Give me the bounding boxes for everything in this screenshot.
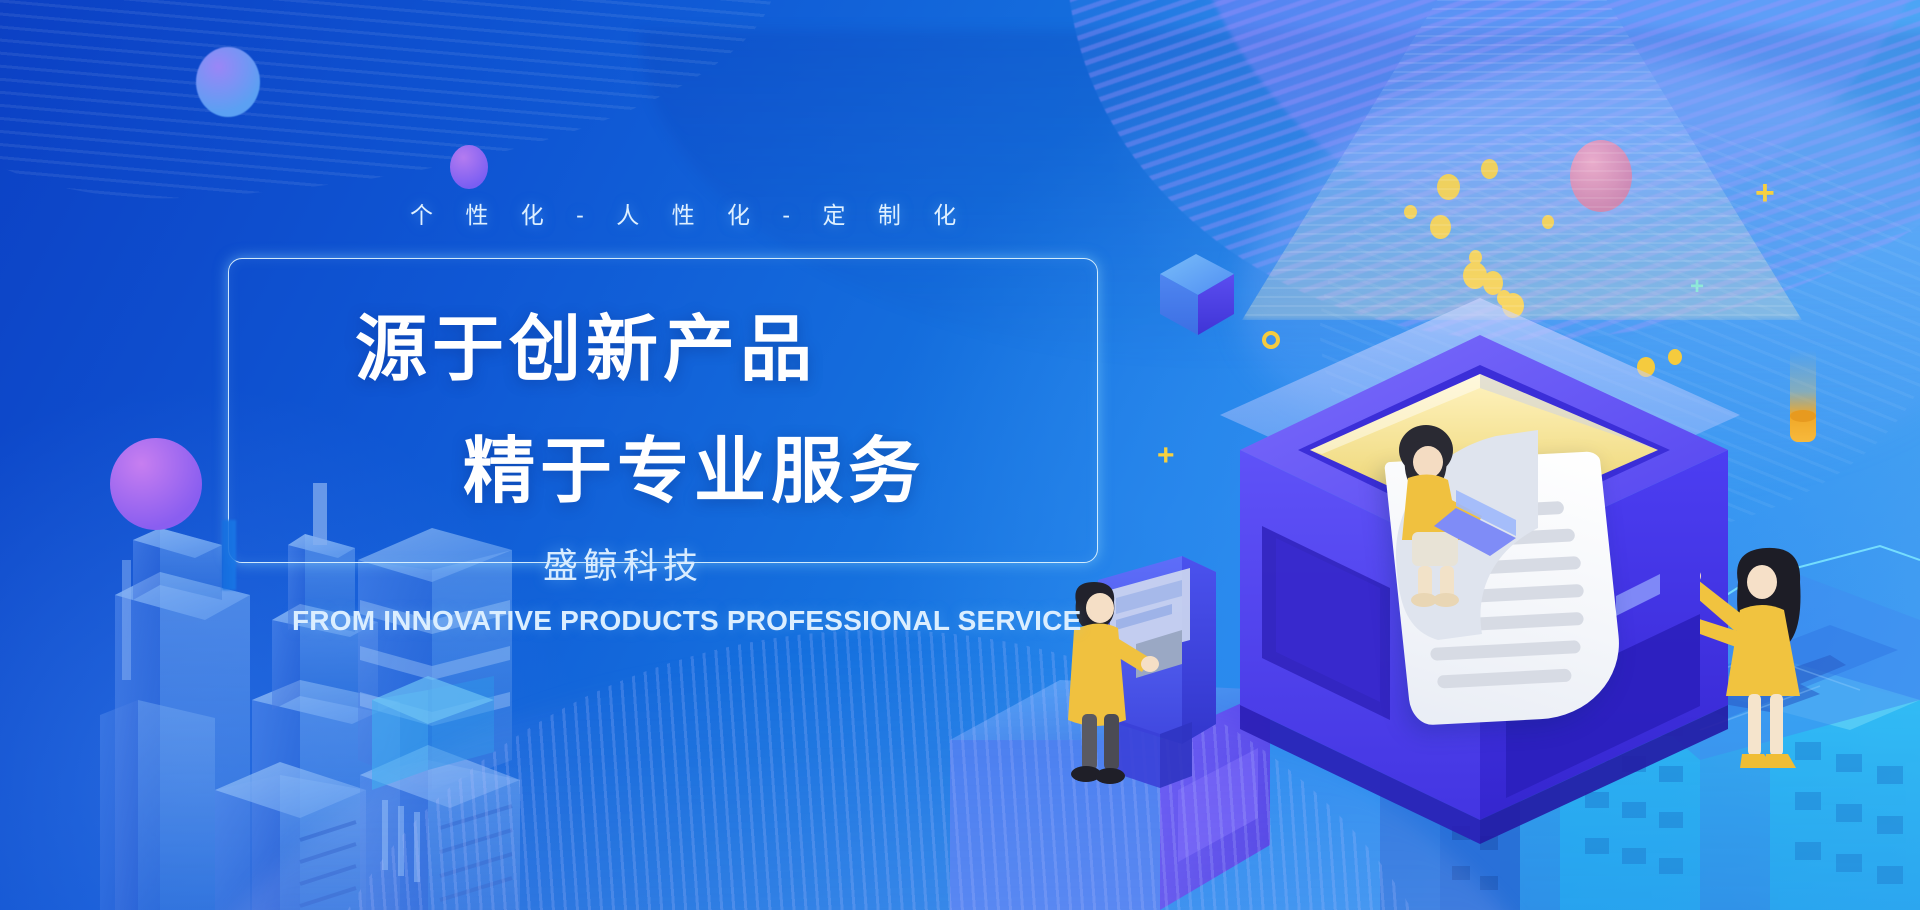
english-subtitle: FROM INNOVATIVE PRODUCTS PROFESSIONAL SE… — [292, 605, 1081, 637]
tagline: 个 性 化 - 人 性 化 - 定 制 化 — [410, 196, 969, 230]
face — [1413, 446, 1443, 478]
headline-line-2: 精于专业服务 — [463, 412, 925, 517]
leg — [1104, 714, 1119, 770]
plus-icon: + — [1157, 441, 1175, 471]
person-sitting-with-laptop — [1348, 420, 1538, 620]
text-content: 个 性 化 - 人 性 化 - 定 制 化 源于创新产品 精于专业服务 盛鲸科技… — [0, 0, 1100, 910]
headline-line-1: 源于创新产品 — [355, 290, 817, 395]
person-standing-yellow-dress — [1700, 540, 1900, 810]
brand-name: 盛鲸科技 — [543, 538, 703, 589]
hero-banner: + + + — [0, 0, 1920, 910]
face — [1747, 565, 1777, 599]
frame-break-left — [222, 520, 236, 590]
shoe — [1764, 754, 1796, 768]
legs — [1412, 532, 1458, 566]
